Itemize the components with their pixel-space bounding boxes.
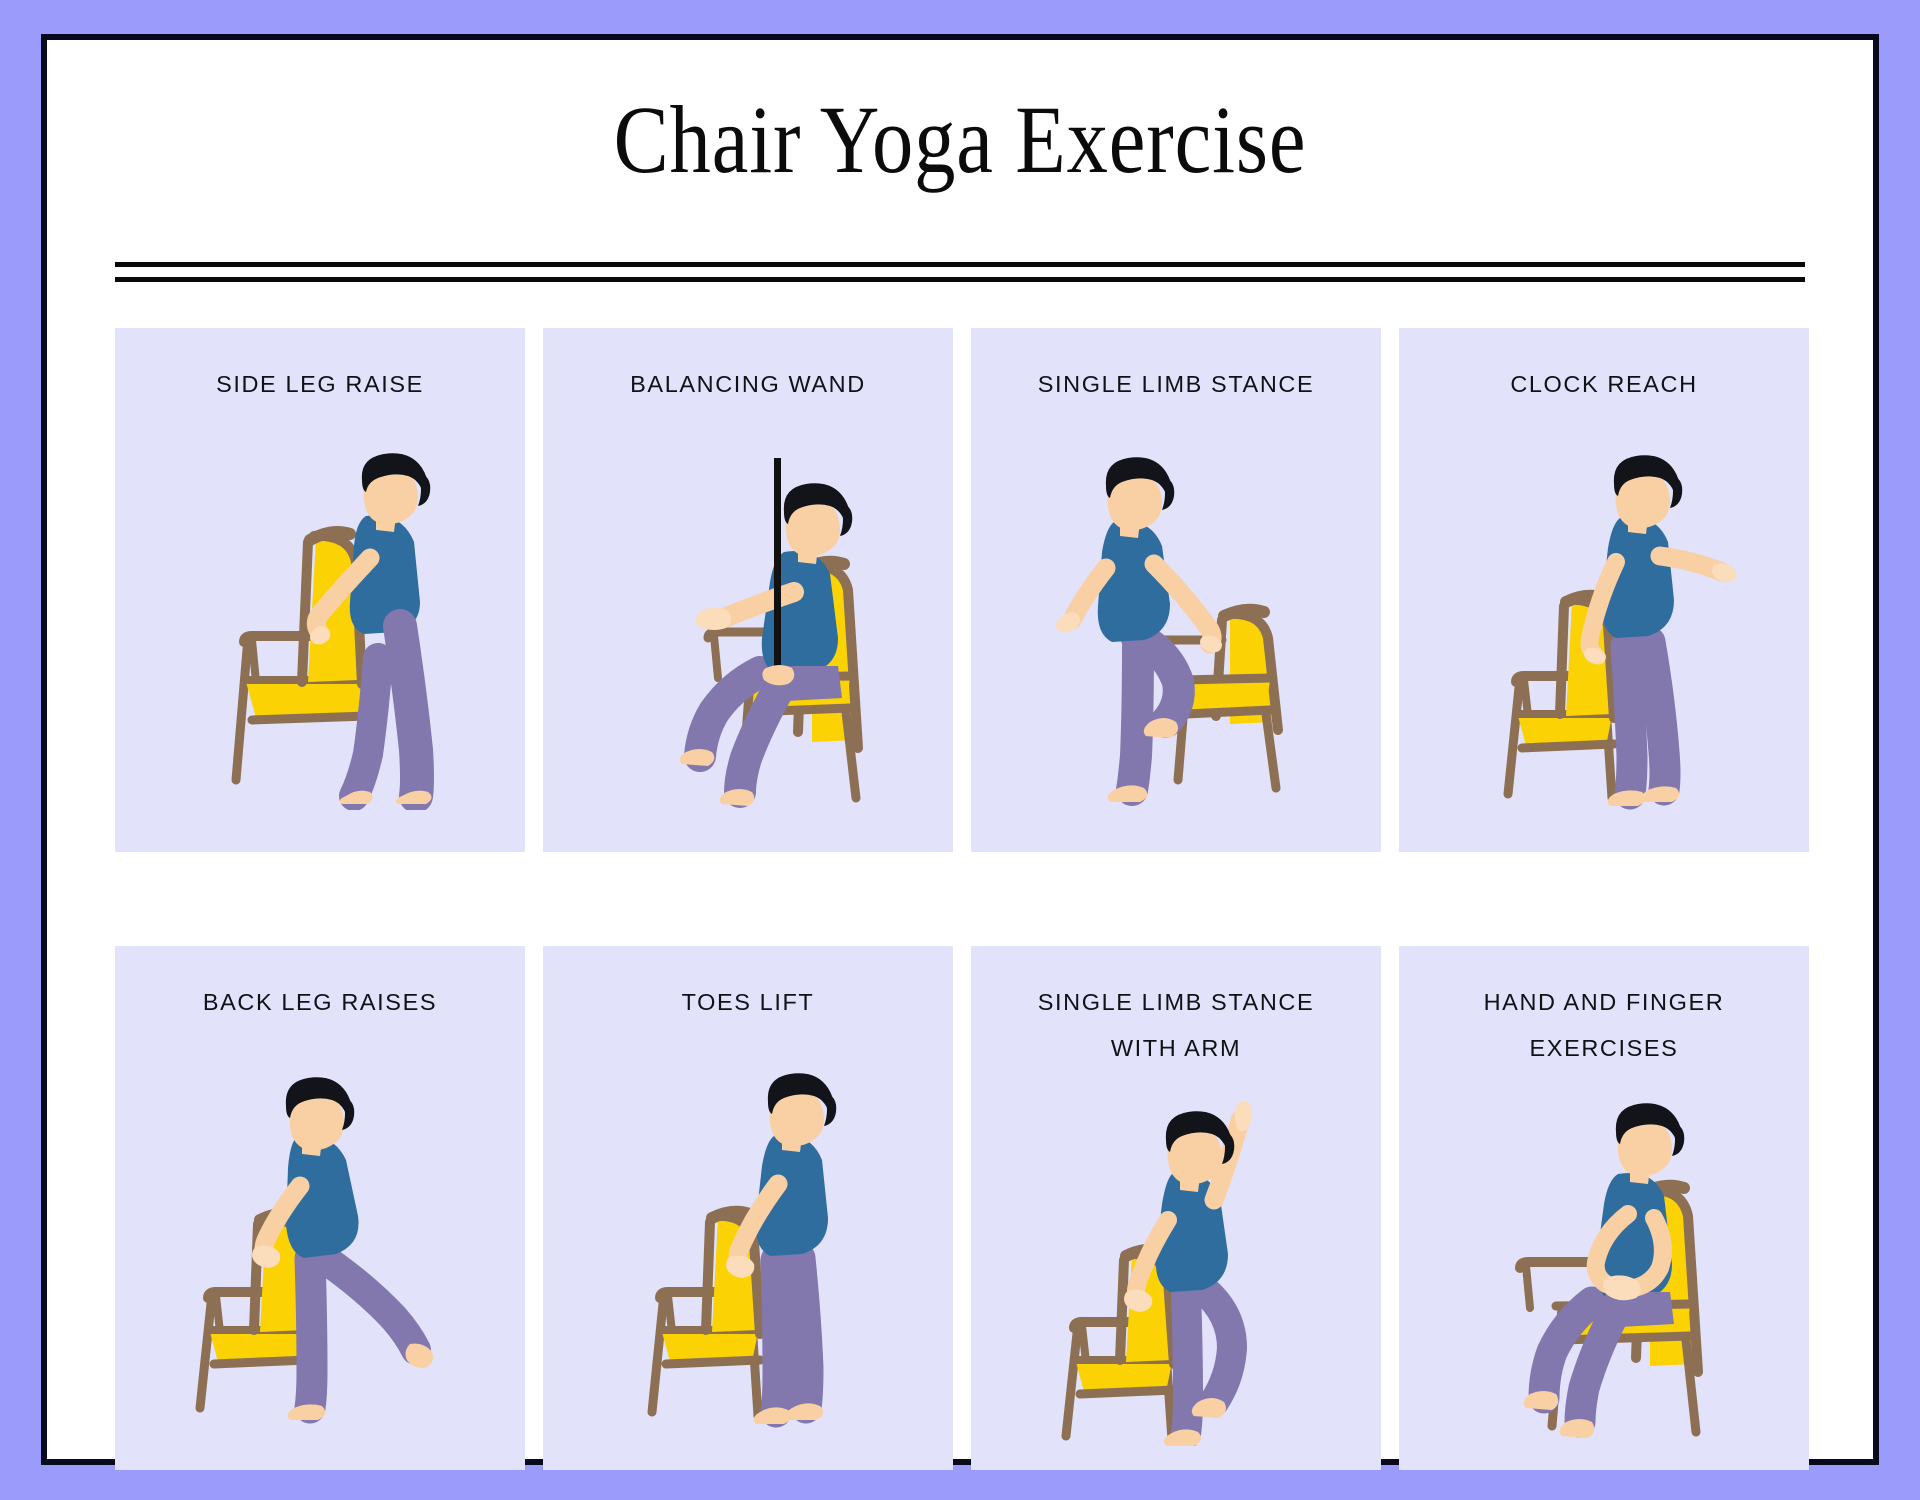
exercise-card-side-leg-raise[interactable]: SIDE LEG RAISE [115, 328, 525, 852]
exercise-card-hand-and-finger-exercises[interactable]: HAND AND FINGER EXERCISES [1399, 946, 1809, 1470]
exercise-label: BACK LEG RAISES [127, 980, 512, 1026]
exercise-illustration-clock-reach [1399, 408, 1809, 852]
exercise-label: SINGLE LIMB STANCE [983, 362, 1368, 408]
title-divider [115, 262, 1805, 282]
exercise-illustration-balancing-wand [543, 408, 953, 852]
exercise-illustration-back-leg-raises [115, 1026, 525, 1470]
exercise-illustration-single-limb-stance [971, 408, 1381, 852]
exercise-illustration-side-leg-raise [115, 408, 525, 852]
exercise-label: BALANCING WAND [555, 362, 940, 408]
exercise-label: HAND AND FINGER EXERCISES [1411, 980, 1796, 1072]
exercise-card-back-leg-raises[interactable]: BACK LEG RAISES [115, 946, 525, 1470]
exercise-card-toes-lift[interactable]: TOES LIFT [543, 946, 953, 1470]
exercise-card-balancing-wand[interactable]: BALANCING WAND [543, 328, 953, 852]
exercise-illustration-single-limb-stance-with-arm [971, 1072, 1381, 1470]
poster-sheet: Chair Yoga Exercise SIDE LEG RAISE [41, 34, 1879, 1465]
exercise-label: CLOCK REACH [1411, 362, 1796, 408]
exercise-illustration-toes-lift [543, 1026, 953, 1470]
exercise-card-single-limb-stance[interactable]: SINGLE LIMB STANCE [971, 328, 1381, 852]
poster-background: Chair Yoga Exercise SIDE LEG RAISE [0, 0, 1920, 1500]
exercise-card-clock-reach[interactable]: CLOCK REACH [1399, 328, 1809, 852]
exercise-grid: SIDE LEG RAISE [115, 328, 1809, 1470]
exercise-label: SINGLE LIMB STANCE WITH ARM [983, 980, 1368, 1072]
divider-line-bottom [115, 277, 1805, 282]
exercise-illustration-hand-and-finger-exercises [1399, 1072, 1809, 1470]
page-title: Chair Yoga Exercise [175, 88, 1745, 192]
divider-line-top [115, 262, 1805, 267]
exercise-label: TOES LIFT [555, 980, 940, 1026]
exercise-label: SIDE LEG RAISE [127, 362, 512, 408]
exercise-card-single-limb-stance-with-arm[interactable]: SINGLE LIMB STANCE WITH ARM [971, 946, 1381, 1470]
